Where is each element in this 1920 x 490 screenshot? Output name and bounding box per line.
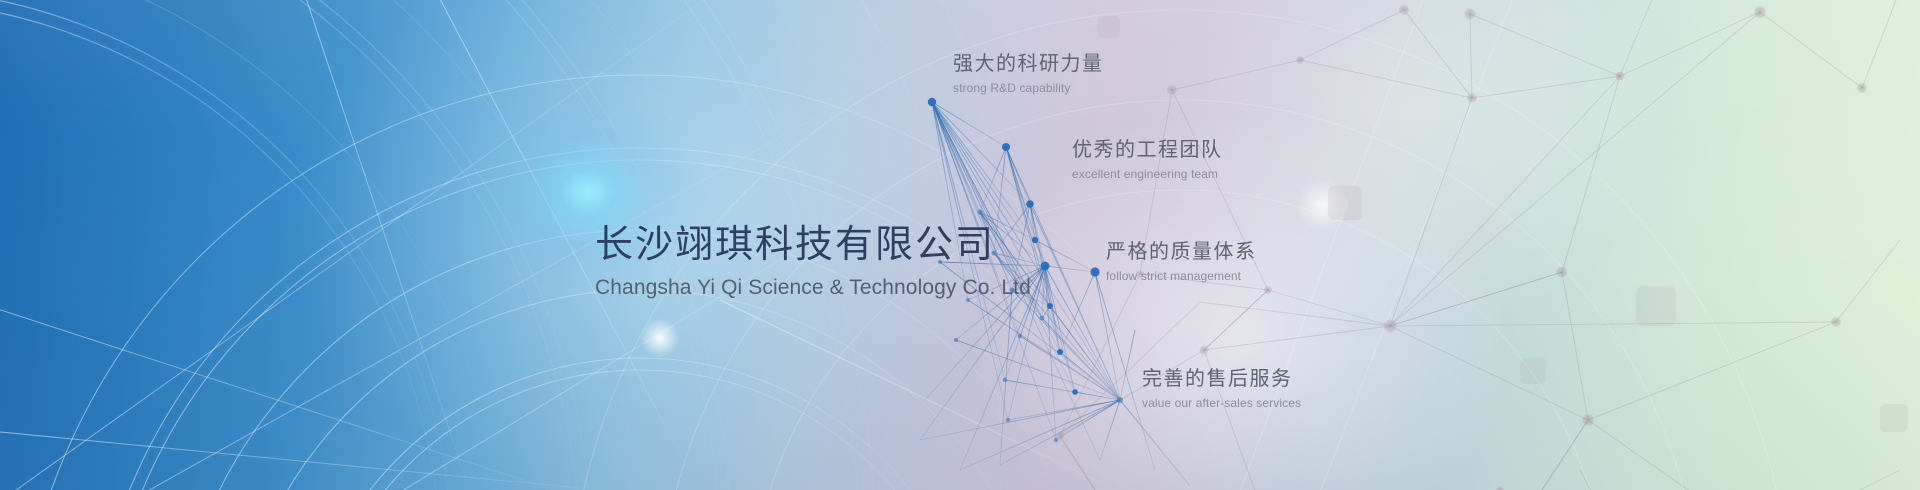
feature-label-en: value our after-sales services bbox=[1142, 395, 1301, 412]
feature-item-quality: 严格的质量体系 follow strict management bbox=[1106, 240, 1257, 285]
feature-label-cn: 强大的科研力量 bbox=[953, 52, 1104, 77]
feature-label-cn: 完善的售后服务 bbox=[1142, 367, 1301, 392]
background-glow-right bbox=[1150, 0, 1670, 340]
company-name-en: Changsha Yi Qi Science & Technology Co. … bbox=[595, 275, 1115, 301]
feature-label-en: follow strict management bbox=[1106, 268, 1257, 285]
sparkle-right-icon bbox=[1296, 178, 1350, 232]
feature-item-engineering: 优秀的工程团队 excellent engineering team bbox=[1072, 138, 1223, 183]
feature-item-rd: 强大的科研力量 strong R&D capability bbox=[953, 52, 1104, 97]
feature-item-aftersales: 完善的售后服务 value our after-sales services bbox=[1142, 367, 1301, 412]
feature-label-en: strong R&D capability bbox=[953, 80, 1104, 97]
hero-banner: 长沙翊琪科技有限公司 Changsha Yi Qi Science & Tech… bbox=[0, 0, 1920, 490]
company-title-block: 长沙翊琪科技有限公司 Changsha Yi Qi Science & Tech… bbox=[595, 222, 1115, 301]
feature-label-en: excellent engineering team bbox=[1072, 166, 1223, 183]
company-name-cn: 长沙翊琪科技有限公司 bbox=[595, 222, 1115, 268]
feature-label-cn: 优秀的工程团队 bbox=[1072, 138, 1223, 163]
sparkle-left-icon bbox=[640, 318, 680, 358]
feature-label-cn: 严格的质量体系 bbox=[1106, 240, 1257, 265]
